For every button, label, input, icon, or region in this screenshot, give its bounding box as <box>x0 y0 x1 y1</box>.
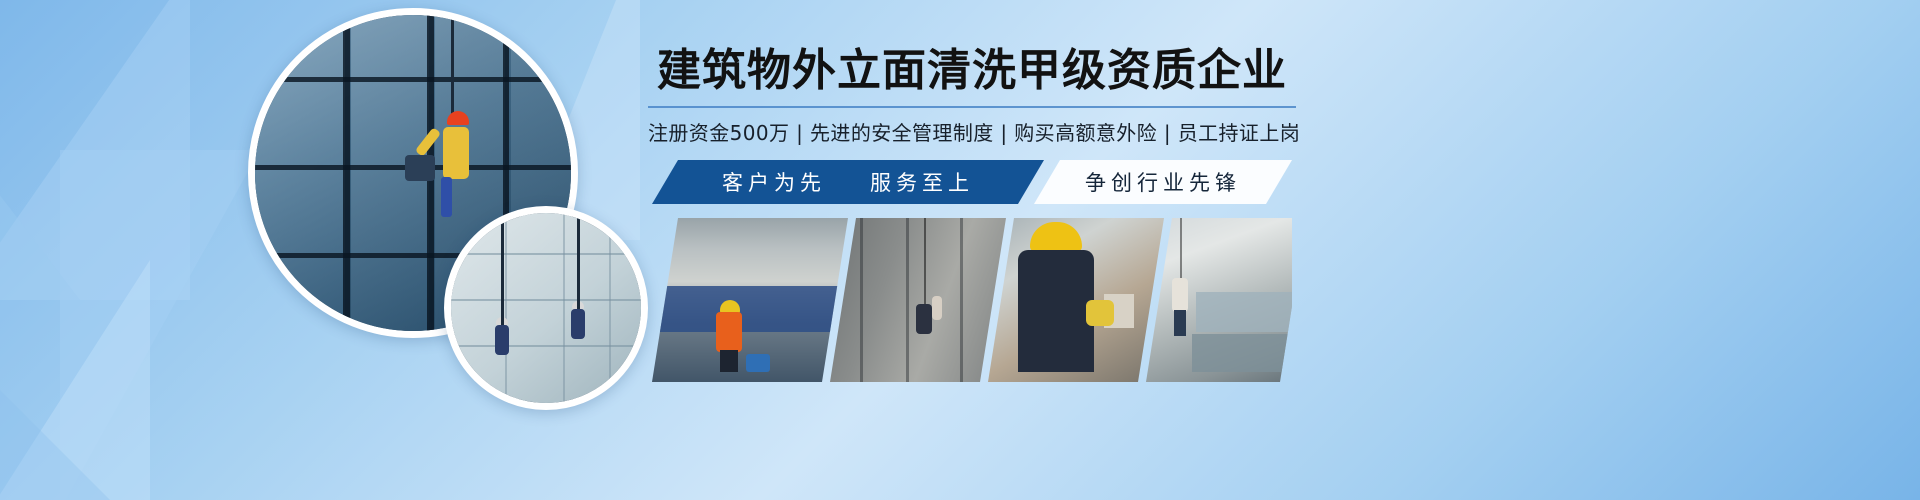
deco-triangle-right-c <box>0 230 140 500</box>
deco-triangle-left-b <box>60 150 260 500</box>
slogan-bar: 客户为先 服务至上 争创行业先锋 <box>652 160 1292 204</box>
strip-photo-2 <box>830 218 1006 382</box>
title-divider <box>648 106 1296 108</box>
page-title: 建筑物外立面清洗甲级资质企业 <box>648 46 1296 95</box>
worker-figure <box>433 111 469 217</box>
slogan-group-light: 争创行业先锋 <box>1034 160 1292 204</box>
deco-triangle-right-a <box>0 0 80 300</box>
worker-orange-vest-image <box>652 218 848 382</box>
strip-photo-3 <box>988 218 1164 382</box>
strip-photo-4 <box>1146 218 1292 382</box>
slogan-group-dark: 客户为先 服务至上 <box>652 160 1044 204</box>
headline-block: 建筑物外立面清洗甲级资质企业 注册资金500万 | 先进的安全管理制度 | 购买… <box>648 46 1296 146</box>
promo-banner: 建筑物外立面清洗甲级资质企业 注册资金500万 | 先进的安全管理制度 | 购买… <box>0 0 1920 500</box>
circle-photo-white-building <box>444 206 648 410</box>
strip-photo-1 <box>652 218 848 382</box>
deco-triangle-left-c <box>0 260 150 500</box>
worker-balcony-image <box>1146 218 1292 382</box>
slogan-item-2: 服务至上 <box>870 167 974 197</box>
slogan-item-1: 客户为先 <box>722 167 826 197</box>
deco-triangle-left-a <box>0 0 190 300</box>
worker-yellow-helmet-image <box>988 218 1164 382</box>
slogan-item-3: 争创行业先锋 <box>1085 167 1241 197</box>
white-building-illustration <box>451 213 641 403</box>
subtitle: 注册资金500万 | 先进的安全管理制度 | 购买高额意外险 | 员工持证上岗 <box>648 117 1296 146</box>
photo-strip <box>652 218 1292 382</box>
worker-concrete-facade-image <box>830 218 1006 382</box>
